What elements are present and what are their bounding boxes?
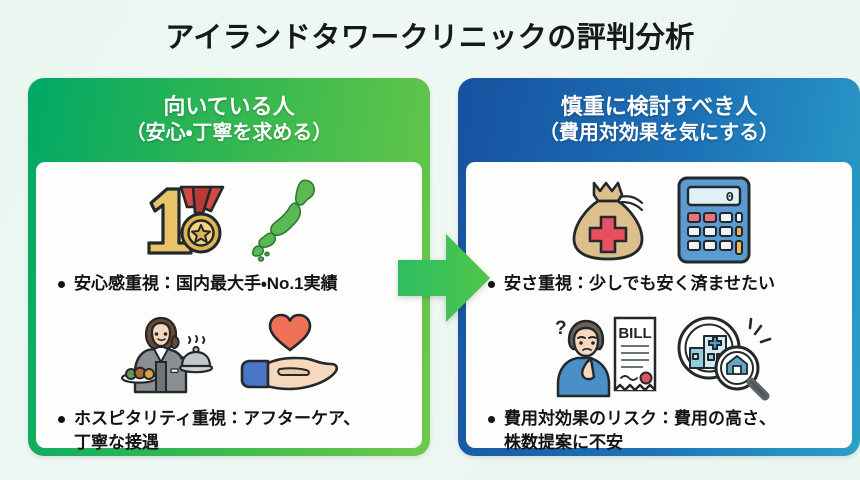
panel-right-bullet-1-text: 安さ重視：少しでも安く済ませたい xyxy=(504,272,775,295)
panel-left-bullet-2-text: ホスピタリティ重視：アフターケア、 丁寧な接遇 xyxy=(74,407,360,454)
hand-holding-heart-icon xyxy=(236,314,340,396)
panel-cautious-people: 慎重に検討すべき人 （費用対効果を気にする） xyxy=(458,78,860,456)
panel-left-row-1: 安心感重視：国内最大手・No.1実績 xyxy=(48,170,410,295)
bullet-dot-icon xyxy=(488,416,495,423)
panel-right-row-1-icons: 0 xyxy=(478,172,840,268)
panel-left-heading-line1: 向いている人 xyxy=(163,94,294,121)
panel-left-header: 向いている人 （安心・丁寧を求める） xyxy=(36,78,422,162)
calculator-display-value: 0 xyxy=(726,190,734,206)
panel-left-bullet-1-text: 安心感重視：国内最大手・No.1実績 xyxy=(74,272,338,295)
rightward-arrow-icon xyxy=(398,230,490,326)
panel-right-row-1: 0 xyxy=(478,170,840,295)
page-title: アイランドタワークリニックの評判分析 xyxy=(0,14,860,56)
panel-left-heading-line2: （安心・丁寧を求める） xyxy=(126,121,333,147)
panel-left-bullet-2: ホスピタリティ重視：アフターケア、 丁寧な接遇 xyxy=(48,403,410,454)
bill-label: BILL xyxy=(618,325,651,342)
money-bag-medical-icon xyxy=(566,177,654,263)
worried-person-bill-icon: ? BILL xyxy=(547,312,657,398)
panel-right-body: 0 xyxy=(466,162,852,448)
magnifier-hospital-icon xyxy=(671,312,771,398)
panel-right-header: 慎重に検討すべき人 （費用対効果を気にする） xyxy=(466,78,852,162)
panel-left-bullet-1: 安心感重視：国内最大手・No.1実績 xyxy=(48,268,410,295)
number-one-medal-icon xyxy=(133,177,225,263)
panel-right-bullet-2-text: 費用対効果のリスク：費用の高さ、 株数提案に不安 xyxy=(504,407,776,454)
japan-map-icon xyxy=(247,176,325,264)
hospitality-server-icon xyxy=(118,312,214,398)
question-mark-label: ? xyxy=(555,318,567,339)
panel-right-heading-line2: （費用対効果を気にする） xyxy=(539,121,779,147)
panel-left-row-2: ホスピタリティ重視：アフターケア、 丁寧な接遇 xyxy=(48,295,410,454)
calculator-icon: 0 xyxy=(676,175,752,265)
panel-right-heading-line1: 慎重に検討すべき人 xyxy=(561,94,757,121)
infographic-canvas: アイランドタワークリニックの評判分析 向いている人 （安心・丁寧を求める） xyxy=(0,0,860,480)
bullet-dot-icon xyxy=(58,416,65,423)
panel-left-body: 安心感重視：国内最大手・No.1実績 xyxy=(36,162,422,448)
bullet-dot-icon xyxy=(58,281,65,288)
panel-right-bullet-1: 安さ重視：少しでも安く済ませたい xyxy=(478,268,840,295)
panel-right-bullet-2: 費用対効果のリスク：費用の高さ、 株数提案に不安 xyxy=(478,403,840,454)
panel-left-row-1-icons xyxy=(48,172,410,268)
panel-suitable-people: 向いている人 （安心・丁寧を求める） xyxy=(28,78,430,456)
panel-right-row-2-icons: ? BILL xyxy=(478,307,840,403)
panel-left-row-2-icons xyxy=(48,307,410,403)
panel-right-row-2: ? BILL xyxy=(478,295,840,454)
